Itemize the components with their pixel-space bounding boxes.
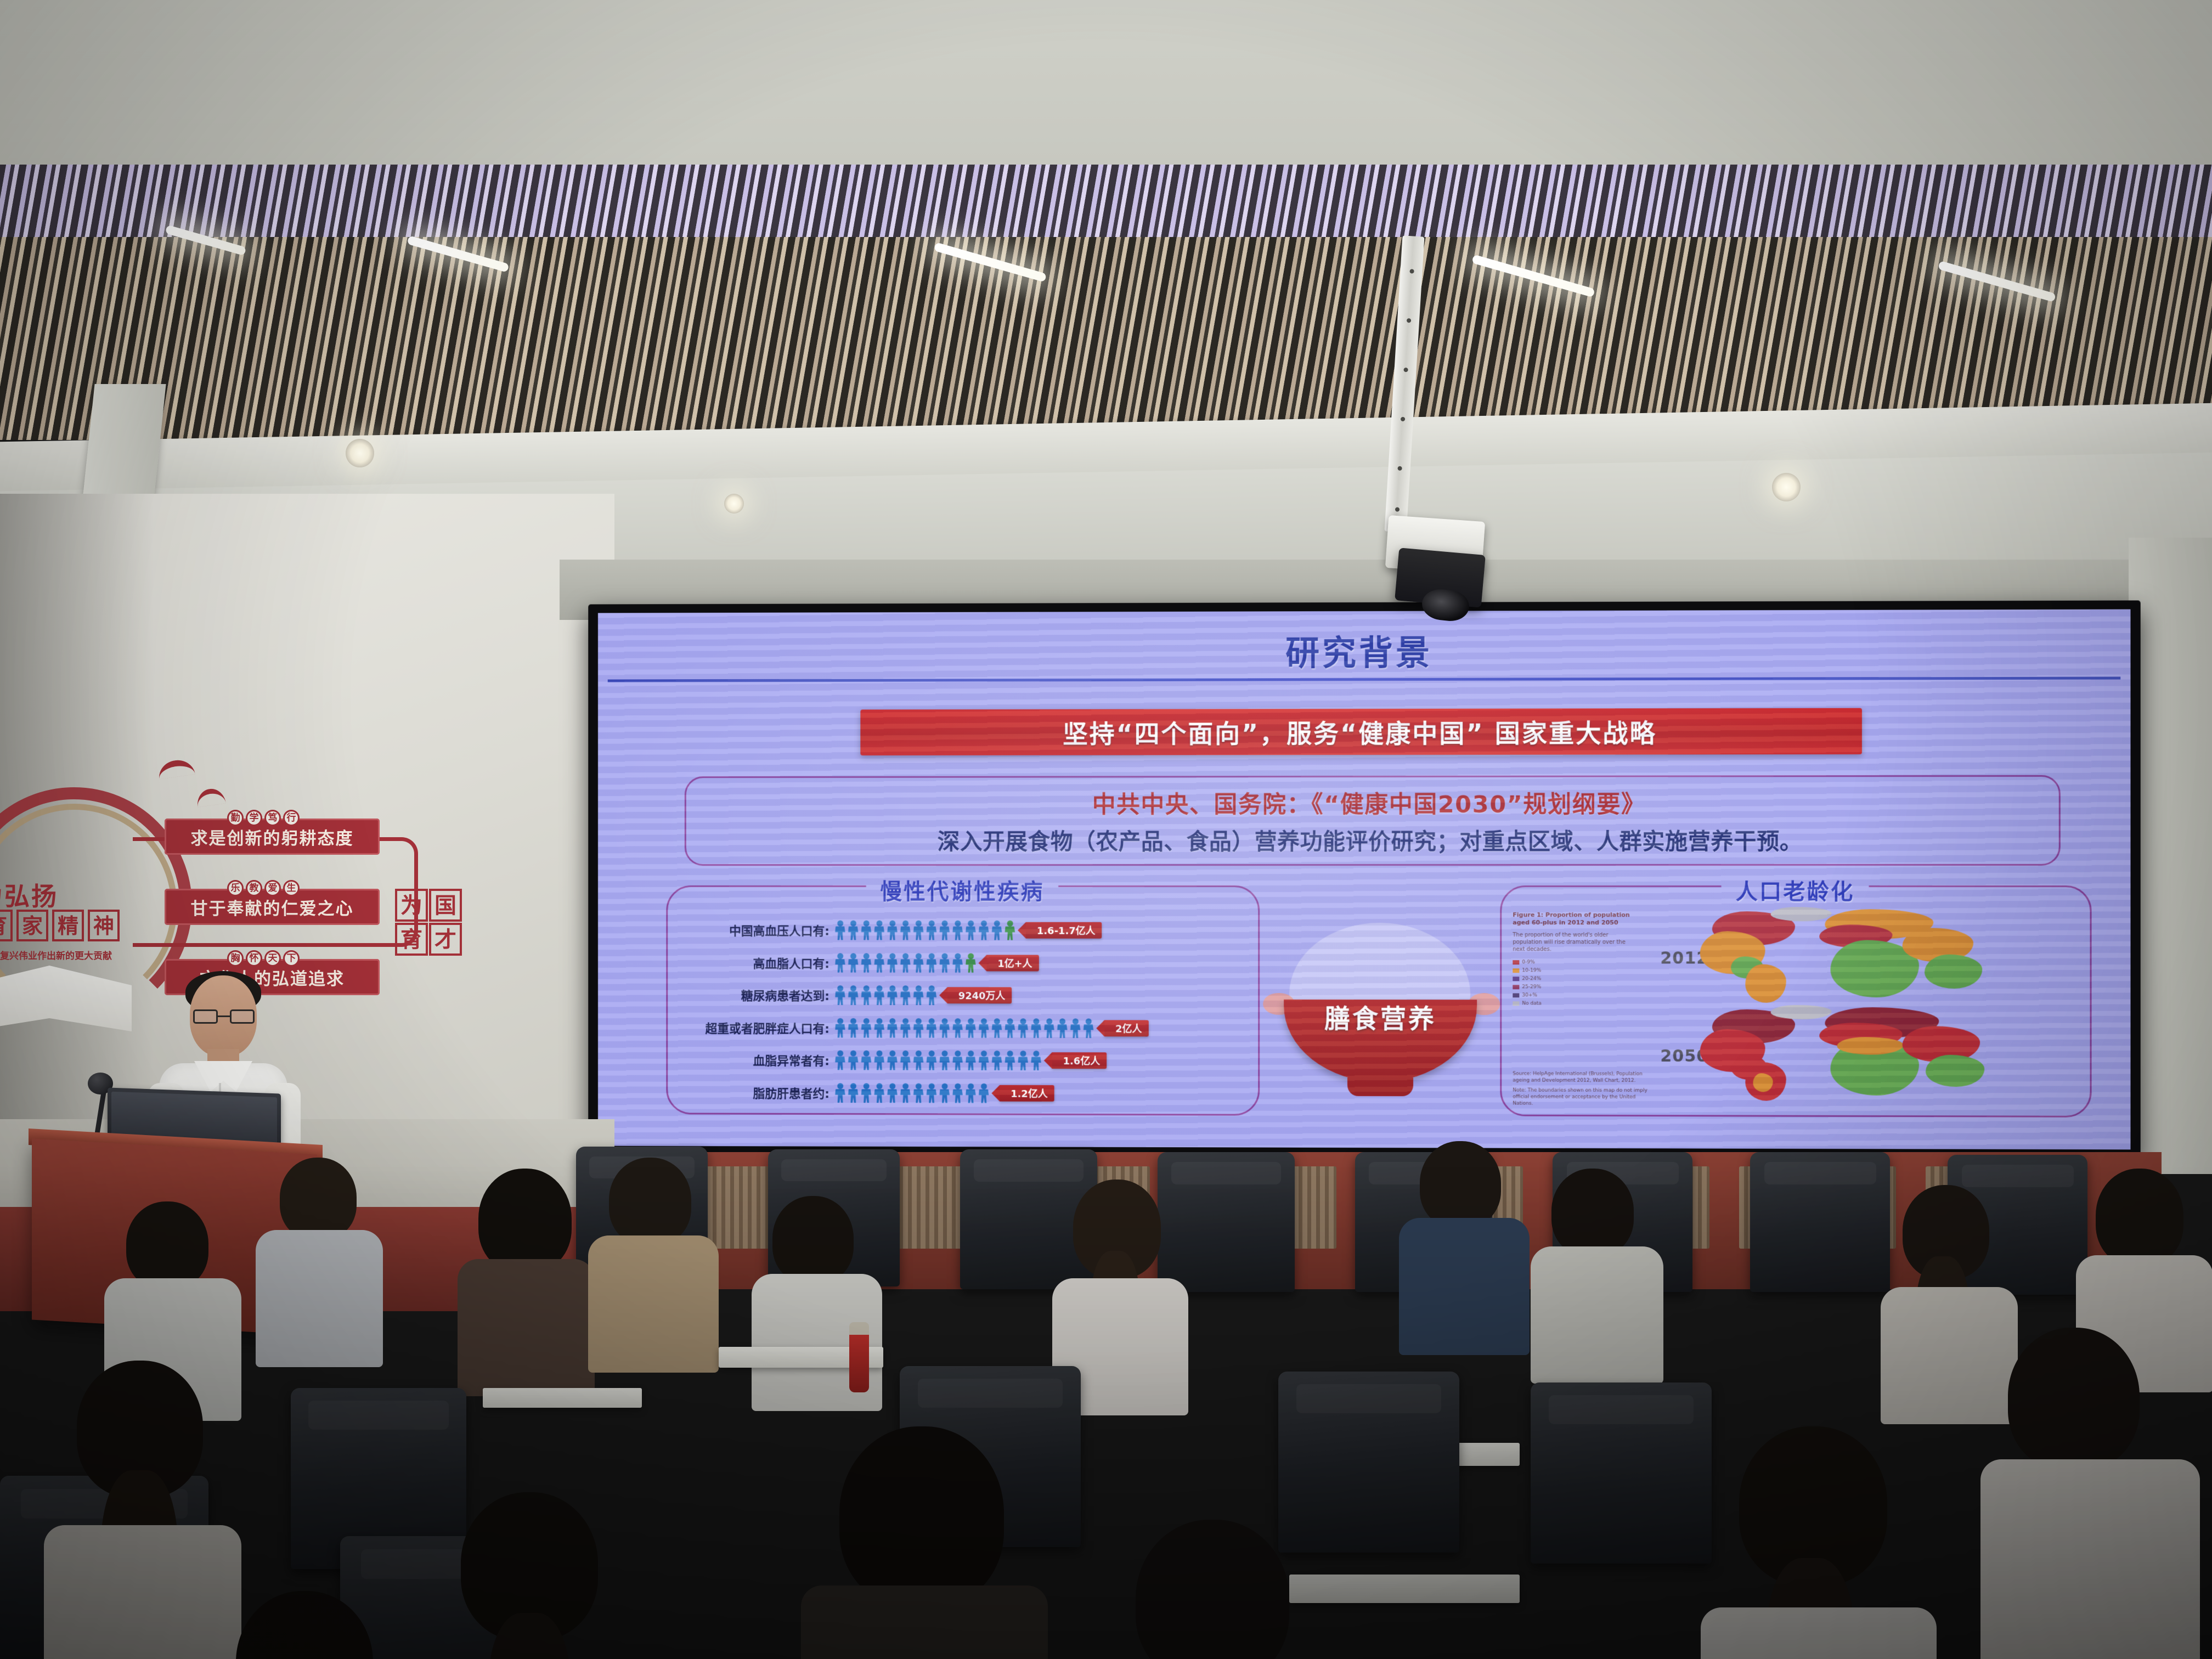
person-icon	[925, 985, 938, 1005]
map-legend-swatch	[1513, 993, 1519, 997]
figure-caption-block: Figure 1: Proportion of population aged …	[1513, 911, 1639, 1006]
wall-headline: 大力弘扬	[0, 877, 58, 913]
person-icon	[964, 1051, 977, 1070]
wall-boxed-char-3: 精	[52, 910, 84, 941]
pictogram-row-label: 中国高血压人口有:	[673, 922, 830, 939]
person-icon	[873, 921, 885, 940]
person-icon	[938, 921, 951, 940]
wall-right-char-3: 才	[429, 923, 462, 956]
person-icon	[886, 985, 899, 1005]
population-aging-panel: 人口老龄化 Figure 1: Proportion of population…	[1500, 885, 2091, 1118]
person-icon	[860, 953, 872, 973]
map-legend-item: No data	[1513, 1001, 1639, 1006]
person-icon	[951, 921, 964, 940]
pictogram-row: 高血脂人口有:1亿+人	[673, 950, 1254, 976]
person-icon	[912, 985, 925, 1005]
person-icon	[1030, 1018, 1042, 1038]
wall-boxed-char-2: 家	[16, 910, 48, 941]
pictogram-person-group	[834, 985, 938, 1005]
person-icon	[978, 1051, 990, 1070]
person-icon	[886, 1051, 899, 1070]
slide-red-banner-text: 坚持“四个面向”，服务“健康中国” 国家重大战略	[1063, 713, 1657, 750]
wall-right-char-1: 国	[429, 889, 462, 922]
map-legend-label: 0-9%	[1522, 960, 1534, 965]
person-icon	[1043, 1018, 1056, 1038]
cap-char: 生	[283, 880, 300, 896]
person-icon	[951, 1018, 964, 1038]
person-icon	[1017, 1018, 1029, 1038]
map-legend-label: No data	[1522, 1001, 1541, 1006]
cap-char: 下	[283, 950, 300, 967]
pictogram-rows: 中国高血压人口有:1.6-1.7亿人高血脂人口有:1亿+人糖尿病患者达到:924…	[673, 916, 1254, 1110]
wall-motto-cap-2: 乐 教 爱 生	[227, 880, 300, 896]
person-icon	[1003, 1051, 1016, 1070]
person-icon	[990, 1051, 1003, 1070]
map-legend-item: 0-9%	[1513, 960, 1639, 965]
cap-char: 勤	[227, 810, 244, 826]
person-icon	[925, 921, 938, 940]
auditorium-seat	[1158, 1152, 1295, 1292]
map-legend: 0-9%10-19%20-24%25-29%30+%No data	[1513, 960, 1639, 1006]
chronic-disease-panel: 慢性代谢性疾病 中国高血压人口有:1.6-1.7亿人高血脂人口有:1亿+人糖尿病…	[666, 885, 1260, 1116]
person-icon	[847, 985, 860, 1005]
person-icon	[899, 921, 912, 940]
lecture-desk	[1289, 1575, 1520, 1603]
person-icon	[873, 985, 885, 1005]
person-icon	[860, 921, 872, 940]
person-icon	[873, 1018, 885, 1038]
pictogram-person-group	[834, 1083, 990, 1103]
wall-subline: 为中华民族复兴伟业作出新的更大贡献	[0, 948, 112, 962]
cap-char: 爱	[264, 880, 281, 896]
wall-motto-cap-3: 胸 怀 天 下	[227, 950, 300, 967]
ceiling-downlight-3	[724, 494, 744, 513]
person-icon	[1003, 921, 1016, 940]
person-icon	[925, 1051, 938, 1070]
person-icon	[990, 921, 1003, 940]
map-legend-item: 30+%	[1513, 992, 1639, 998]
wall-motto-cap-1: 勤 学 笃 行	[227, 810, 300, 826]
person-icon	[978, 921, 990, 940]
pictogram-row-label: 高血脂人口有:	[673, 954, 830, 972]
auditorium-seat	[1531, 1383, 1712, 1564]
wall-motto-text-1: 求是创新的躬耕态度	[191, 825, 354, 849]
map-legend-swatch	[1513, 977, 1519, 981]
person-icon	[1003, 1018, 1016, 1038]
map-legend-swatch	[1513, 1001, 1519, 1006]
figure-note: The proportion of the world's older popu…	[1513, 932, 1639, 953]
person-icon	[964, 1018, 977, 1038]
cap-char: 笃	[264, 810, 281, 826]
cap-char: 教	[246, 880, 262, 896]
person-icon	[1056, 1018, 1069, 1038]
figure-source-line: Source: HelpAge International (Brussels)…	[1513, 1071, 1650, 1085]
person-icon	[951, 1084, 964, 1103]
person-icon	[951, 953, 964, 973]
wall-right-char-0: 为	[395, 889, 428, 922]
person-icon	[834, 953, 847, 973]
slide-statement-box: 中共中央、国务院：《“健康中国2030”规划纲要》 深入开展食物（农产品、食品）…	[685, 775, 2061, 866]
person-icon	[912, 953, 925, 973]
figure-source-note: Note: The boundaries shown on this map d…	[1513, 1087, 1650, 1107]
map-legend-item: 10-19%	[1513, 968, 1639, 973]
map-legend-swatch	[1513, 968, 1519, 973]
person-icon	[978, 1084, 990, 1103]
person-icon	[938, 953, 951, 973]
map-legend-swatch	[1513, 960, 1519, 964]
pictogram-row-label: 糖尿病患者达到:	[673, 986, 830, 1004]
statement-line-1: 中共中央、国务院：《“健康中国2030”规划纲要》	[1092, 786, 1646, 820]
person-icon	[860, 1083, 872, 1103]
person-icon	[925, 953, 938, 973]
map-legend-item: 20-24%	[1513, 976, 1639, 981]
person-icon	[1082, 1018, 1094, 1038]
person-icon	[886, 953, 899, 973]
person-icon	[834, 1018, 847, 1038]
cap-char: 天	[264, 950, 281, 967]
pictogram-value-badge: 1.2亿人	[1000, 1085, 1054, 1102]
cap-char: 学	[246, 810, 262, 826]
person-icon	[860, 985, 872, 1005]
person-icon	[899, 953, 912, 973]
pictogram-row-label: 脂肪肝患者约:	[673, 1084, 830, 1102]
population-aging-heading: 人口老龄化	[1722, 874, 1869, 906]
map-legend-item: 25-29%	[1513, 984, 1639, 990]
wall-motto-text-2: 甘于奉献的仁爱之心	[191, 895, 354, 919]
person-icon	[873, 1083, 885, 1103]
person-icon	[925, 1018, 938, 1038]
person-icon	[886, 1083, 899, 1103]
cap-char: 怀	[246, 950, 262, 967]
ceiling-downlight-2	[1772, 473, 1801, 501]
person-icon	[847, 921, 860, 940]
bird-icon-1	[157, 758, 195, 780]
dietary-nutrition-bowl: 膳食营养	[1260, 896, 1501, 1116]
person-icon	[873, 1051, 885, 1070]
person-icon	[964, 1084, 977, 1103]
chronic-disease-heading: 慢性代谢性疾病	[866, 874, 1058, 906]
person-icon	[899, 985, 912, 1005]
figure-title: Figure 1: Proportion of population aged …	[1513, 911, 1639, 927]
wall-boxed-char-4: 神	[88, 910, 120, 941]
person-icon	[899, 1083, 912, 1103]
map-legend-label: 25-29%	[1522, 984, 1541, 990]
slide-red-banner: 坚持“四个面向”，服务“健康中国” 国家重大战略	[860, 708, 1862, 755]
person-icon	[978, 1018, 990, 1038]
bowl-foot-icon	[1347, 1077, 1413, 1096]
title-underline	[608, 676, 2121, 682]
person-icon	[886, 1018, 899, 1038]
cap-char: 行	[283, 810, 300, 826]
cap-char: 胸	[227, 950, 244, 967]
pictogram-person-group	[834, 953, 977, 973]
person-icon	[938, 1018, 951, 1038]
pictogram-person-group	[834, 921, 1016, 940]
glasses-icon	[193, 1009, 255, 1024]
map-legend-label: 20-24%	[1522, 976, 1541, 981]
slide-title: 研究背景	[598, 624, 2131, 676]
lecture-hall-photo: 大力弘扬 教 育 家 精 神 为中华民族复兴伟业作出新的更大贡献 求是创新的躬耕…	[0, 0, 2212, 1659]
map-legend-label: 10-19%	[1522, 968, 1541, 973]
cap-char: 乐	[227, 880, 244, 896]
person-icon	[1030, 1051, 1042, 1070]
person-icon	[834, 1083, 847, 1103]
pictogram-value-badge: 1.6-1.7亿人	[1026, 922, 1102, 939]
person-icon	[834, 1051, 847, 1070]
world-map-2050: 2050	[1643, 1004, 2002, 1103]
person-icon	[938, 1084, 951, 1103]
pictogram-row: 糖尿病患者达到:9240万人	[673, 983, 1254, 1008]
ceiling-downlight-1	[346, 439, 374, 467]
pictogram-row-label: 血脂异常者有:	[673, 1051, 830, 1069]
person-icon	[899, 1018, 912, 1038]
person-icon	[873, 953, 885, 973]
bowl-label: 膳食营养	[1260, 997, 1501, 1036]
person-icon	[834, 921, 847, 940]
pictogram-row: 血脂异常者有:1.6亿人	[673, 1047, 1254, 1074]
pictogram-person-group	[834, 1018, 1094, 1039]
auditorium-seat	[1278, 1372, 1459, 1553]
person-icon	[860, 1051, 872, 1070]
person-icon	[925, 1083, 938, 1103]
statement-line-2: 深入开展食物（农产品、食品）营养功能评价研究；对重点区域、人群实施营养干预。	[938, 823, 1803, 856]
person-icon	[912, 921, 925, 940]
pictogram-value-badge: 9240万人	[947, 987, 1012, 1003]
person-icon	[912, 1051, 925, 1070]
wall-right-boxed: 为 国 育 才	[395, 889, 466, 982]
bird-icon-2	[195, 787, 226, 808]
person-icon	[834, 985, 847, 1005]
person-icon	[951, 1051, 964, 1070]
pictogram-person-group	[834, 1051, 1042, 1070]
person-icon	[899, 1051, 912, 1070]
ceiling-baffles-upper	[0, 165, 2212, 247]
person-icon	[847, 1051, 860, 1070]
person-icon	[847, 1018, 860, 1038]
wall-boxed-char-1: 育	[0, 910, 13, 941]
slide-content: 研究背景 坚持“四个面向”，服务“健康中国” 国家重大战略 中共中央、国务院：《…	[598, 610, 2131, 1150]
person-icon	[912, 1083, 925, 1103]
person-icon	[938, 1051, 951, 1070]
pictogram-row-label: 超重或者肥胖症人口有:	[673, 1019, 830, 1036]
lecture-desk	[483, 1388, 642, 1408]
wall-right	[2129, 538, 2212, 1174]
person-icon	[990, 1018, 1003, 1038]
pictogram-value-badge: 1亿+人	[986, 955, 1039, 971]
presentation-screen: 研究背景 坚持“四个面向”，服务“健康中国” 国家重大战略 中共中央、国务院：《…	[598, 610, 2131, 1150]
person-icon	[912, 1018, 925, 1038]
pictogram-row: 超重或者肥胖症人口有:2亿人	[673, 1015, 1254, 1041]
wall-boxed-characters: 教 育 家 精 神	[0, 910, 120, 941]
person-icon	[964, 953, 977, 973]
water-bottle	[849, 1322, 869, 1392]
pictogram-row: 中国高血压人口有:1.6-1.7亿人	[673, 918, 1254, 943]
person-icon	[1069, 1018, 1082, 1038]
world-map-2012: 2012	[1643, 906, 2002, 1004]
pictogram-value-badge: 1.6亿人	[1052, 1052, 1107, 1069]
person-icon	[860, 1018, 872, 1038]
pictogram-row: 脂肪肝患者约:1.2亿人	[673, 1080, 1254, 1107]
person-icon	[964, 921, 977, 940]
person-icon	[847, 1083, 860, 1103]
pictogram-value-badge: 2亿人	[1104, 1020, 1148, 1036]
auditorium-seat	[1750, 1152, 1890, 1292]
map-legend-label: 30+%	[1522, 992, 1537, 998]
figure-source: Source: HelpAge International (Brussels)…	[1513, 1071, 1650, 1107]
person-icon	[847, 953, 860, 973]
wall-right-char-2: 育	[395, 923, 428, 956]
map-legend-swatch	[1513, 985, 1519, 989]
led-display-bezel: 研究背景 坚持“四个面向”，服务“健康中国” 国家重大战略 中共中央、国务院：《…	[588, 600, 2141, 1158]
person-icon	[886, 921, 899, 940]
person-icon	[1017, 1051, 1029, 1070]
